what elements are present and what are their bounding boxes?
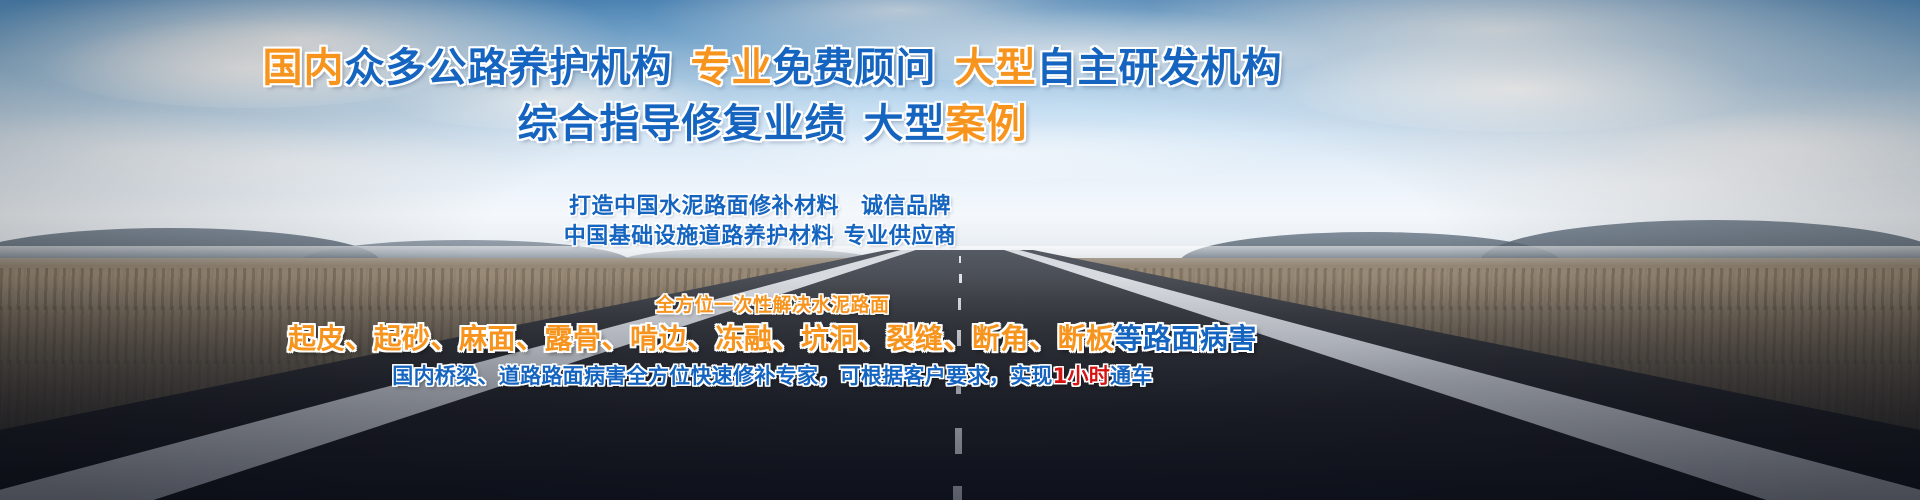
promo-banner: 国内众多公路养护机构专业免费顾问大型自主研发机构 综合指导修复业绩大型案例 打造…	[0, 0, 1920, 500]
sub-line2-main: 中国基础设施道路养护材料	[564, 224, 834, 249]
headline-seg-agencies: 众多公路养护机构	[345, 45, 673, 91]
headline-seg-large: 大型	[955, 45, 1037, 91]
sub-line1-main: 打造中国水泥路面修补材料	[569, 194, 839, 219]
defects-lead-line: 全方位一次性解决水泥路面	[0, 292, 1545, 318]
headline-seg-guidance: 综合指导修复业绩	[518, 101, 846, 147]
defects-suffix: 等路面病害	[1115, 322, 1258, 355]
headline-line-1: 国内众多公路养护机构专业免费顾问大型自主研发机构	[0, 44, 1545, 92]
defects-block: 全方位一次性解决水泥路面 起皮、起砂、麻面、露骨、啃边、冻融、坑洞、裂缝、断角、…	[0, 292, 1545, 391]
closing-text-a: 国内桥梁、道路路面病害全方位快速修补专家，可根据客户要求，实现	[392, 364, 1052, 388]
headline-seg-free-consult: 免费顾问	[773, 45, 937, 91]
headline-line-2: 综合指导修复业绩大型案例	[0, 100, 1545, 148]
banner-content: 国内众多公路养护机构专业免费顾问大型自主研发机构 综合指导修复业绩大型案例 打造…	[0, 0, 1920, 500]
headline-seg-cases: 案例	[946, 101, 1028, 147]
subheading-line-1: 打造中国水泥路面修补材料诚信品牌	[0, 192, 1520, 222]
defects-names: 起皮、起砂、麻面、露骨、啃边、冻融、坑洞、裂缝、断角、断板	[288, 322, 1115, 355]
sub-line2-tag: 专业供应商	[844, 224, 957, 249]
headline-seg-rnd: 自主研发机构	[1037, 45, 1283, 91]
headline-seg-domestic: 国内	[263, 45, 345, 91]
subheading-line-2: 中国基础设施道路养护材料专业供应商	[0, 222, 1520, 252]
defects-list-line: 起皮、起砂、麻面、露骨、啃边、冻融、坑洞、裂缝、断角、断板等路面病害	[0, 320, 1545, 358]
closing-text-b: 通车	[1110, 364, 1153, 388]
sub-line1-tag: 诚信品牌	[861, 194, 951, 219]
headline-block: 国内众多公路养护机构专业免费顾问大型自主研发机构 综合指导修复业绩大型案例	[0, 44, 1545, 148]
headline-seg-large-2: 大型	[864, 101, 946, 147]
headline-seg-professional: 专业	[691, 45, 773, 91]
subheading-block: 打造中国水泥路面修补材料诚信品牌 中国基础设施道路养护材料专业供应商	[0, 192, 1520, 252]
closing-highlight-1hour: 1小时	[1053, 364, 1111, 388]
closing-line: 国内桥梁、道路路面病害全方位快速修补专家，可根据客户要求，实现1小时通车	[0, 361, 1545, 391]
